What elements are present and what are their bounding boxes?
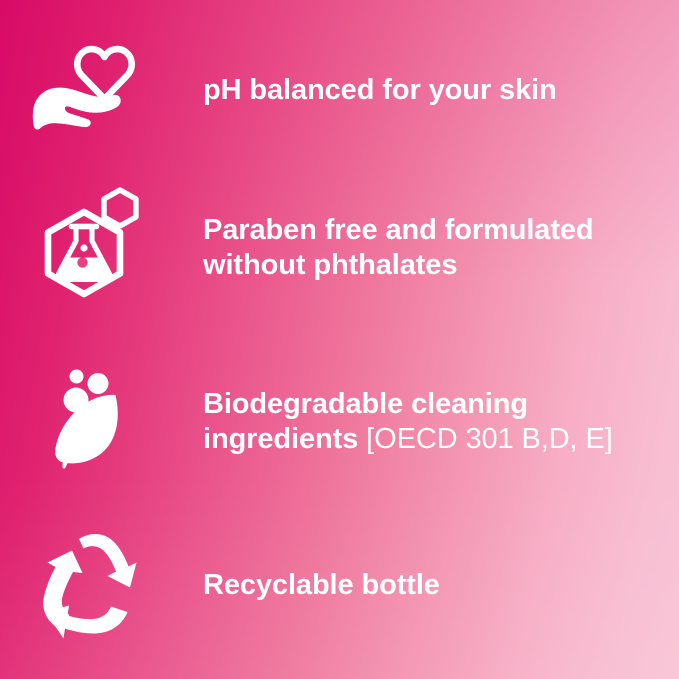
recycle-arrows-icon [32, 529, 152, 641]
product-benefits-panel: pH balanced for your skin [0, 0, 679, 679]
benefit-label-biodegradable: Biodegradable cleaning ingredients [OECD… [203, 387, 679, 457]
benefit-label-ph-balanced: pH balanced for your skin [203, 73, 679, 108]
benefit-label-recyclable-bottle: Recyclable bottle [203, 568, 679, 603]
benefit-label-normal: [OECD 301 B,D, E] [358, 423, 612, 455]
leaf-with-bubbles-icon [32, 362, 152, 482]
hand-holding-heart-icon [32, 44, 152, 136]
benefits-list: pH balanced for your skin [0, 0, 679, 679]
benefit-label-bold: Paraben free and formulated without phth… [203, 214, 594, 281]
benefit-item-paraben-free: Paraben free and formulated without phth… [0, 178, 679, 318]
benefit-label-bold: pH balanced for your skin [203, 74, 557, 106]
benefit-label-paraben-free: Paraben free and formulated without phth… [203, 213, 679, 283]
benefit-item-ph-balanced: pH balanced for your skin [0, 30, 679, 150]
benefit-item-biodegradable: Biodegradable cleaning ingredients [OECD… [0, 352, 679, 492]
benefit-item-recyclable-bottle: Recyclable bottle [0, 520, 679, 650]
benefit-label-bold: Recyclable bottle [203, 569, 440, 601]
flask-in-hexagon-icon [32, 182, 152, 314]
